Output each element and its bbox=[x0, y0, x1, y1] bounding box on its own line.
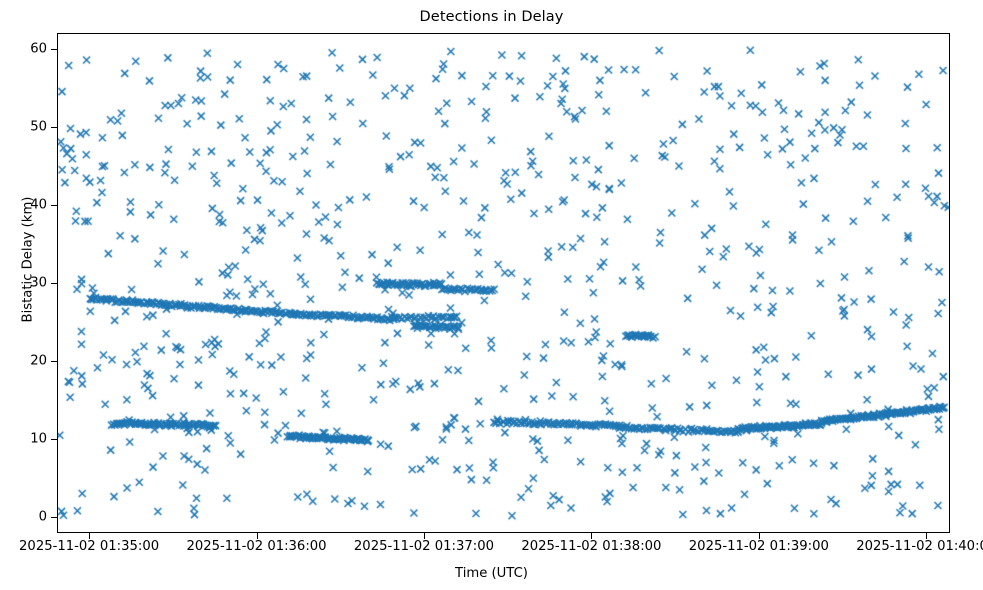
x-tick-label: 2025-11-02 01:35:00 bbox=[19, 539, 159, 554]
x-tick-mark bbox=[424, 533, 425, 539]
plot-axes bbox=[57, 33, 950, 533]
x-tick-mark bbox=[591, 533, 592, 539]
y-tick-mark bbox=[51, 517, 57, 518]
y-axis-label: Bistatic Delay (km) bbox=[21, 110, 36, 410]
y-tick-mark bbox=[51, 361, 57, 362]
x-tick-label: 2025-11-02 01:37:00 bbox=[354, 539, 494, 554]
x-tick-label: 2025-11-02 01:36:00 bbox=[186, 539, 326, 554]
figure-canvas: Detections in Delay 0102030405060 2025-1… bbox=[0, 0, 983, 590]
chart-title: Detections in Delay bbox=[0, 9, 983, 25]
x-tick-mark bbox=[926, 533, 927, 539]
x-tick-label: 2025-11-02 01:40:00 bbox=[856, 539, 983, 554]
x-tick-mark bbox=[89, 533, 90, 539]
y-tick-mark bbox=[51, 205, 57, 206]
x-tick-mark bbox=[759, 533, 760, 539]
y-tick-mark bbox=[51, 283, 57, 284]
y-tick-label: 10 bbox=[30, 432, 47, 447]
y-tick-mark bbox=[51, 127, 57, 128]
y-tick-label: 0 bbox=[39, 510, 47, 525]
y-tick-mark bbox=[51, 439, 57, 440]
x-tick-label: 2025-11-02 01:38:00 bbox=[521, 539, 661, 554]
x-tick-label: 2025-11-02 01:39:00 bbox=[689, 539, 829, 554]
y-tick-label: 60 bbox=[30, 41, 47, 56]
x-tick-mark bbox=[257, 533, 258, 539]
scatter-plot-canvas bbox=[58, 34, 950, 533]
x-axis-label: Time (UTC) bbox=[0, 566, 983, 581]
x-axis-tick-labels: 2025-11-02 01:35:002025-11-02 01:36:0020… bbox=[0, 539, 983, 559]
y-tick-mark bbox=[51, 49, 57, 50]
